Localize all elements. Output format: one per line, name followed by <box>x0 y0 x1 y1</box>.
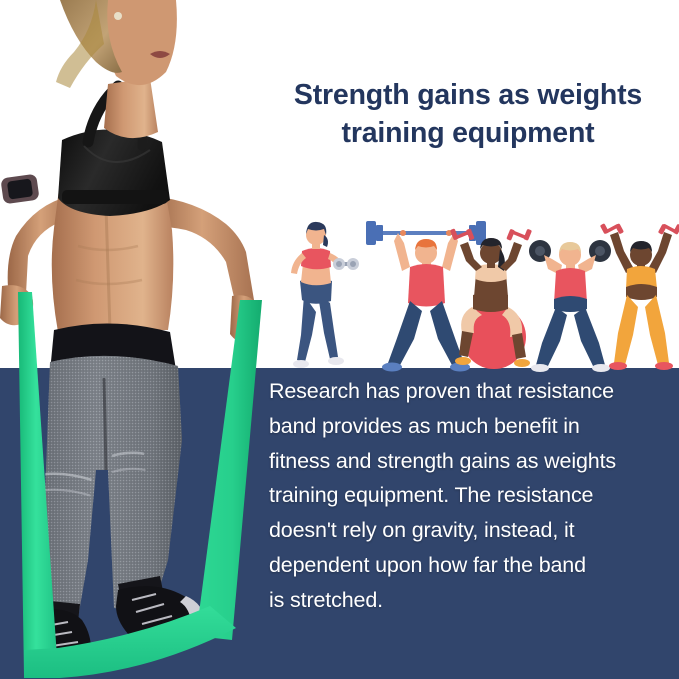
page-title-line-1: Strength gains as weights <box>262 76 674 114</box>
promo-banner: Strength gains as weights training equip… <box>0 0 679 679</box>
body-line: Research has proven that resistance <box>269 374 673 409</box>
figure-woman-arms-raised <box>600 223 679 370</box>
body-line: fitness and strength gains as weights <box>269 444 673 479</box>
figure-woman-exercise-ball <box>450 228 532 369</box>
dumbbell-icon-left <box>450 228 475 240</box>
body-line: dependent upon how far the band <box>269 548 673 583</box>
body-line: band provides as much benefit in <box>269 409 673 444</box>
exercise-illustration-strip <box>288 215 679 375</box>
dumbbell-icon <box>333 258 359 270</box>
figure-woman-with-dumbbell <box>291 222 359 368</box>
body-line: doesn't rely on gravity, instead, it <box>269 513 673 548</box>
dumbbell-icon-right <box>506 229 532 241</box>
body-line: training equipment. The resistance <box>269 478 673 513</box>
dumbbell-icon-left <box>600 223 624 234</box>
page-title-line-2: training equipment <box>262 114 674 152</box>
page-title: Strength gains as weights training equip… <box>262 76 674 152</box>
body-line: is stretched. <box>269 583 673 618</box>
body-paragraph: Research has proven that resistance band… <box>269 374 673 618</box>
woman-resistance-band-photo <box>0 0 258 679</box>
figure-man-shoulder-press <box>529 240 611 372</box>
dumbbell-icon-right <box>658 223 679 234</box>
